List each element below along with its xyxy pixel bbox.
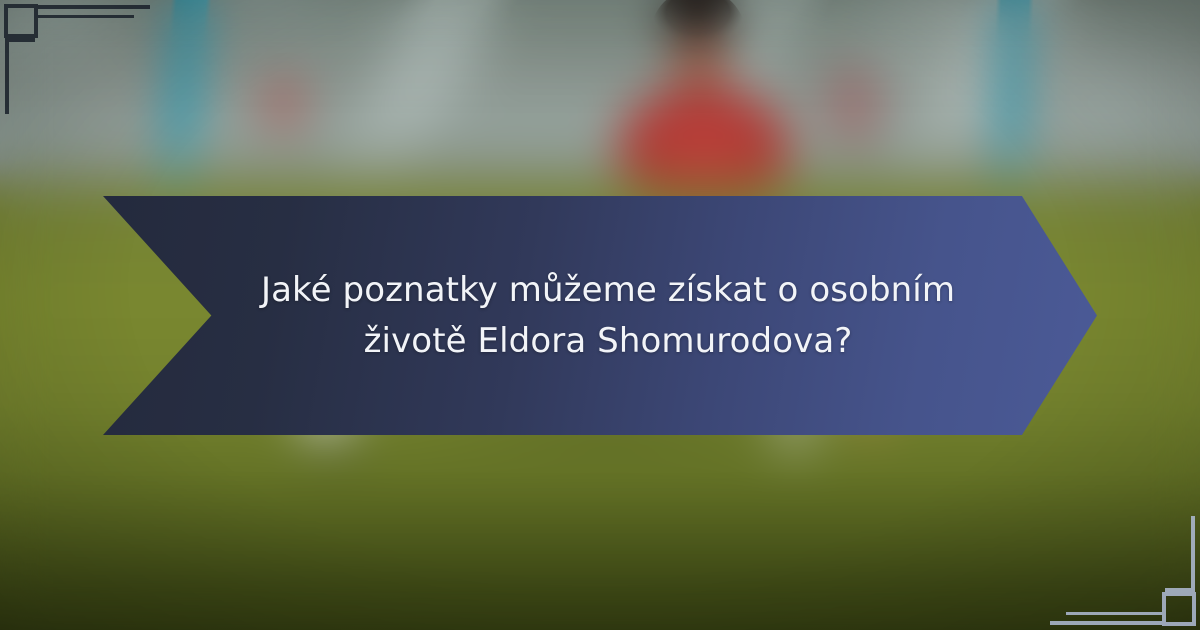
share-card: Jaké poznatky můžeme získat o osobním ži… xyxy=(0,0,1200,630)
headline-banner: Jaké poznatky můžeme získat o osobním ži… xyxy=(103,196,1097,435)
headline-text: Jaké poznatky můžeme získat o osobním ži… xyxy=(248,265,968,366)
